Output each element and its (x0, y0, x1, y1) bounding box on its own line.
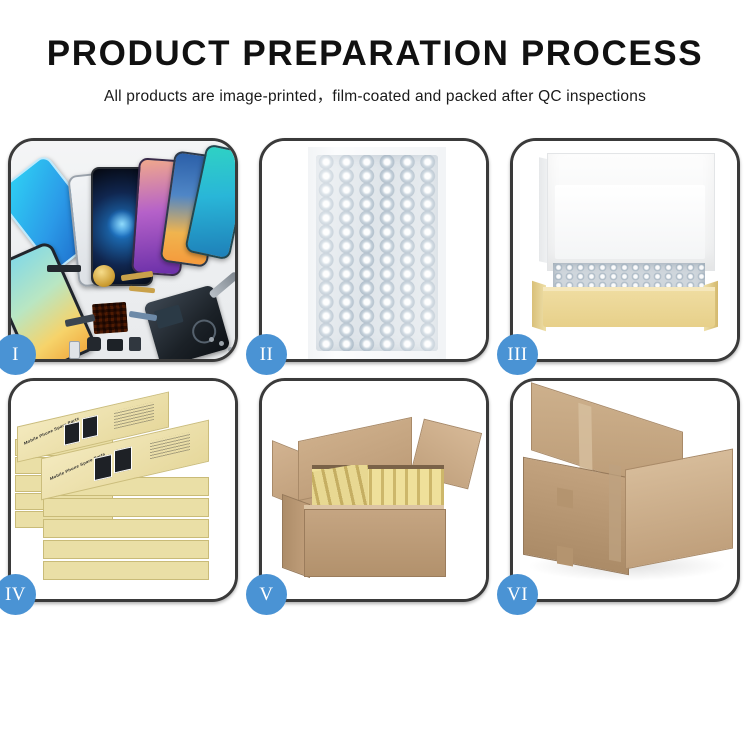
bubble-wrap-pouch-icon (316, 155, 438, 351)
process-grid: I II (8, 138, 742, 618)
process-step-panel-1[interactable]: I (8, 138, 238, 362)
process-step-panel-2[interactable]: II (259, 138, 489, 362)
process-row-1: I II (8, 138, 742, 362)
screen-image (114, 446, 132, 473)
retail-box (43, 519, 209, 538)
inner-box-illustration (513, 141, 737, 359)
spec-list (150, 432, 190, 459)
retail-box (43, 498, 209, 517)
component-icon (129, 337, 141, 351)
page-subtitle: All products are image-printed，film-coat… (0, 84, 750, 106)
step-badge-2: II (246, 334, 287, 375)
foam-sheet-icon (555, 185, 705, 259)
screen-image (94, 454, 112, 481)
step-badge-6: VI (497, 574, 538, 615)
step-badge-5: V (246, 574, 287, 615)
screwdriver-icon (208, 271, 235, 299)
process-step-panel-6[interactable]: VI (510, 378, 740, 602)
retail-box (43, 540, 209, 559)
carton-flap-tab (557, 487, 573, 508)
process-row-2: Mobile Phone Spare Parts Mobile Phone Sp… (8, 378, 742, 602)
process-step-panel-5[interactable]: V (259, 378, 489, 602)
connector-grid-icon (92, 302, 128, 334)
stacked-boxes-illustration: Mobile Phone Spare Parts Mobile Phone Sp… (11, 381, 235, 599)
process-step-panel-4[interactable]: Mobile Phone Spare Parts Mobile Phone Sp… (8, 378, 238, 602)
step-badge-1: I (0, 334, 36, 375)
header: PRODUCT PREPARATION PROCESS All products… (0, 0, 750, 106)
spec-list (114, 402, 154, 429)
carton-side-face (625, 449, 733, 570)
phone-parts-illustration (11, 141, 235, 359)
screen-image (82, 415, 98, 440)
bubble-wrap-illustration (262, 141, 486, 359)
packing-tape-front (609, 464, 621, 562)
carton-flap-tab (557, 545, 573, 566)
infographic-page: PRODUCT PREPARATION PROCESS All products… (0, 0, 750, 750)
carton-front-wall (304, 509, 446, 577)
open-carton-illustration (262, 381, 486, 599)
camera-module-icon (87, 337, 101, 351)
vibration-motor-icon (93, 265, 115, 287)
component-icon (107, 339, 123, 351)
process-step-panel-3[interactable]: III (510, 138, 740, 362)
earpiece-speaker-icon (47, 265, 81, 272)
retail-box (43, 561, 209, 580)
page-title: PRODUCT PREPARATION PROCESS (0, 36, 750, 71)
box-front-wall (543, 291, 715, 327)
screen-image (64, 421, 80, 446)
sealed-carton-illustration (513, 381, 737, 599)
sim-tray-icon (69, 341, 80, 359)
step-badge-3: III (497, 334, 538, 375)
flex-cable-icon (129, 286, 155, 294)
step-badge-4: IV (0, 574, 36, 615)
screws-icon (209, 337, 235, 353)
